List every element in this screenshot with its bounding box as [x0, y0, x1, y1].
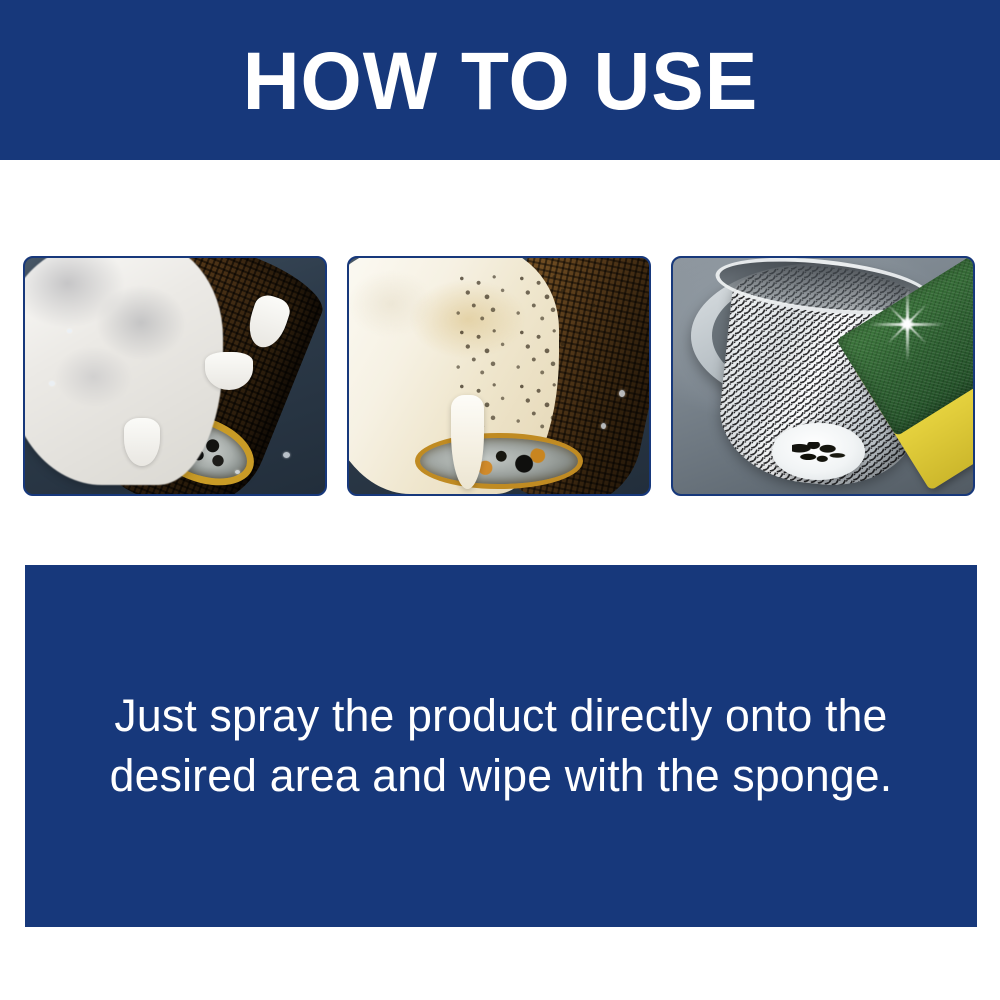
- strainer-bottom-disc: [772, 423, 865, 480]
- water-droplet: [49, 381, 55, 386]
- instruction-block: Just spray the product directly onto the…: [25, 565, 977, 927]
- page-title: HOW TO USE: [242, 41, 757, 123]
- water-droplet: [67, 329, 72, 333]
- strainer-opening: [415, 433, 583, 490]
- step-image-3: [671, 256, 975, 496]
- water-droplet: [283, 452, 290, 458]
- header-banner: HOW TO USE: [0, 0, 1000, 160]
- steps-photo-row: [23, 256, 975, 496]
- panel-foam-applied: [25, 258, 325, 494]
- panel-foam-dripping: [349, 258, 649, 494]
- step-image-2: [347, 256, 651, 496]
- step-image-1: [23, 256, 327, 496]
- instruction-text: Just spray the product directly onto the…: [90, 686, 912, 807]
- foam-blob: [25, 258, 223, 485]
- panel-clean-result: [673, 258, 973, 494]
